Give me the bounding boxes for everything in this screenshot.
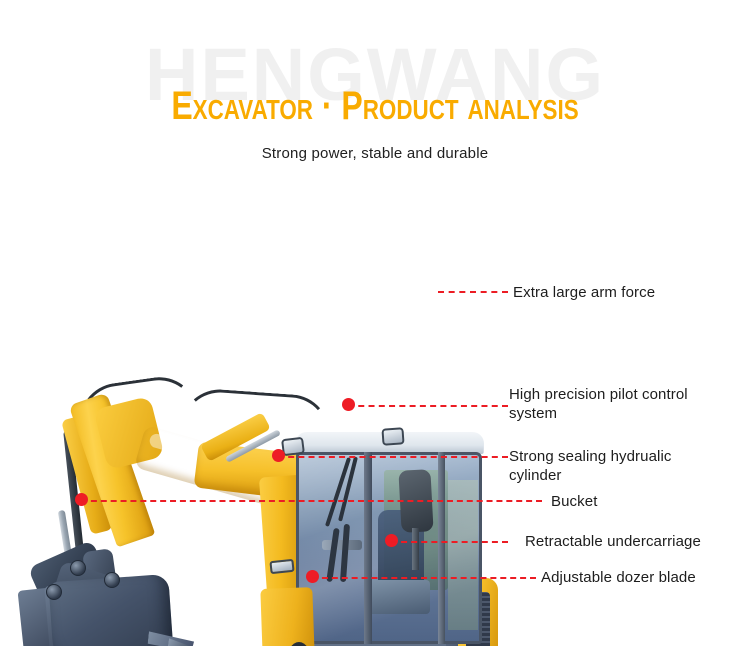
callout-leader-arm-force <box>438 291 508 293</box>
page-subtitle: Strong power, stable and durable <box>0 145 750 162</box>
boom-work-lamp <box>269 559 294 574</box>
cab-reflection-background <box>448 480 478 630</box>
cab-pillar-rear <box>438 452 445 644</box>
callout-label-bucket: Bucket <box>551 492 597 511</box>
mirror-arm <box>412 528 419 570</box>
callout-label-arm-force: Extra large arm force <box>513 283 655 302</box>
linkage-pin-2 <box>104 572 120 588</box>
callout-label-dozer-blade: Adjustable dozer blade <box>541 568 696 587</box>
linkage-pin-3 <box>46 584 62 600</box>
cab-pillar-front <box>364 452 372 644</box>
operator-seat-base <box>368 580 430 614</box>
callout-leader-dozer-blade <box>312 577 536 579</box>
callout-leader-bucket <box>81 500 542 502</box>
page-title: Excavator · Product analysis <box>75 85 675 127</box>
work-lamp-right <box>381 427 404 445</box>
product-analysis-page: HENGWANG Excavator · Product analysis St… <box>0 0 750 646</box>
callout-leader-undercarriage <box>391 541 508 543</box>
callout-label-pilot-control: High precision pilot control system <box>509 385 688 423</box>
boom-mount-bracket <box>260 587 315 646</box>
callout-label-hydraulic-cyl: Strong sealing hydrualic cylinder <box>509 447 672 485</box>
callout-leader-pilot-control <box>348 405 508 407</box>
linkage-pin-1 <box>70 560 86 576</box>
callout-label-undercarriage: Retractable undercarriage <box>525 532 701 551</box>
callout-leader-hydraulic-cyl <box>278 456 508 458</box>
